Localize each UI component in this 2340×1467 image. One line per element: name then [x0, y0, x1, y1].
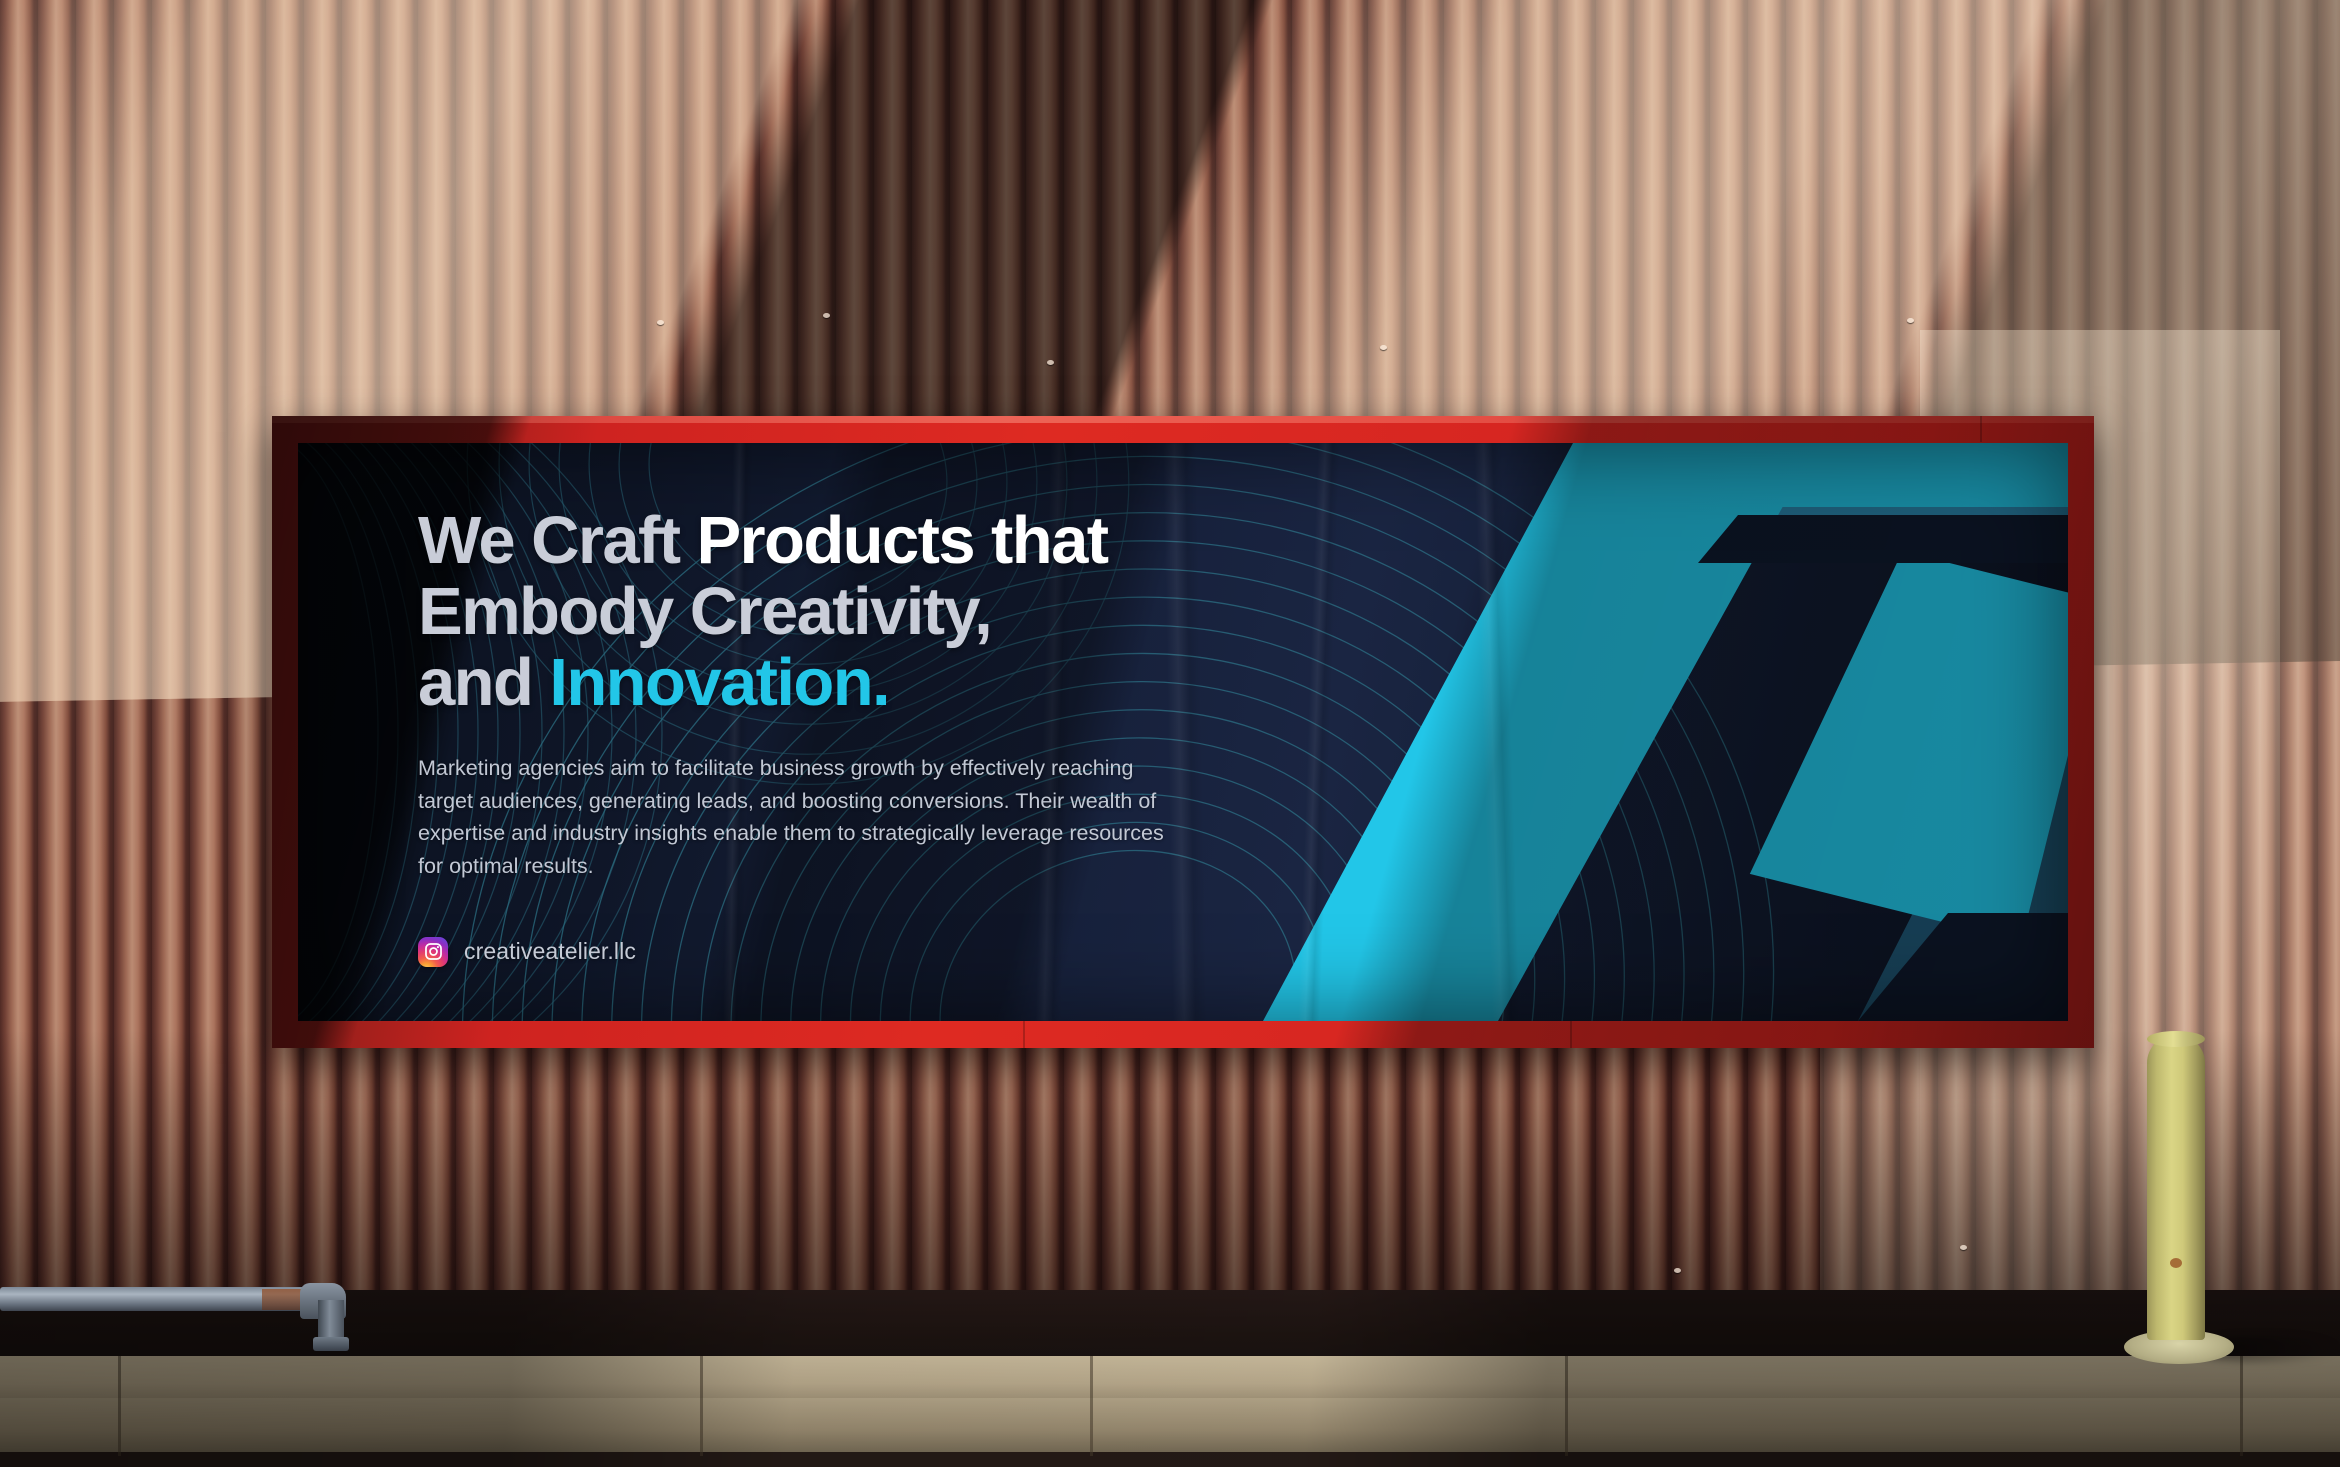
bollard-rust-mark: [2170, 1258, 2182, 1268]
headline-line-2: Embody Creativity,: [418, 574, 991, 649]
wall-screw: [1047, 360, 1054, 365]
poster-content: We Craft Products that Embody Creativity…: [418, 505, 1218, 967]
logo-shape-cyan-top-block: [1738, 443, 2068, 507]
wall-screw: [1960, 1245, 1967, 1250]
sidewalk-curb-top: [0, 1356, 2340, 1402]
curb-seam: [2240, 1356, 2243, 1456]
yellow-bollard: [2147, 1035, 2205, 1340]
frame-top-highlight: [272, 416, 2094, 423]
wall-screw: [657, 320, 664, 325]
wall-screw: [1907, 318, 1914, 323]
pipe-rust-patch: [262, 1289, 302, 1310]
curb-seam: [1565, 1356, 1568, 1456]
social-handle-row[interactable]: creativeatelier.llc: [418, 937, 1218, 967]
wall-screw: [823, 313, 830, 318]
ground-foreground: [0, 1452, 2340, 1467]
curb-seam: [1090, 1356, 1093, 1456]
logo-shape-cyan-parallelogram: [1750, 534, 2068, 941]
page-title: We Craft Products that Embody Creativity…: [418, 505, 1218, 718]
curb-seam: [118, 1356, 121, 1456]
headline-line-1-part-a: We Craft: [418, 503, 696, 578]
wall-screw: [1674, 1268, 1681, 1273]
headline-line-1-part-b: Products that: [696, 503, 1107, 578]
sidewalk-curb-face: [0, 1398, 2340, 1456]
social-handle-text[interactable]: creativeatelier.llc: [464, 938, 636, 965]
bollard-top-cap: [2147, 1031, 2205, 1047]
billboard-poster: We Craft Products that Embody Creativity…: [298, 443, 2068, 1021]
frame-panel-seam: [1980, 416, 1982, 442]
curb-seam: [700, 1356, 703, 1456]
logo-shape-navy-notch: [1698, 515, 2068, 563]
wall-screw: [1380, 345, 1387, 350]
billboard-street-scene: We Craft Products that Embody Creativity…: [0, 0, 2340, 1467]
headline-line-3-accent: Innovation.: [549, 645, 889, 720]
headline-line-3-part-a: and: [418, 645, 549, 720]
frame-panel-seam: [1570, 1018, 1572, 1048]
body-copy: Marketing agencies aim to facilitate bus…: [418, 752, 1178, 883]
instagram-icon[interactable]: [418, 937, 448, 967]
frame-panel-seam: [1023, 1018, 1025, 1048]
pipe-end-cap: [313, 1337, 349, 1351]
